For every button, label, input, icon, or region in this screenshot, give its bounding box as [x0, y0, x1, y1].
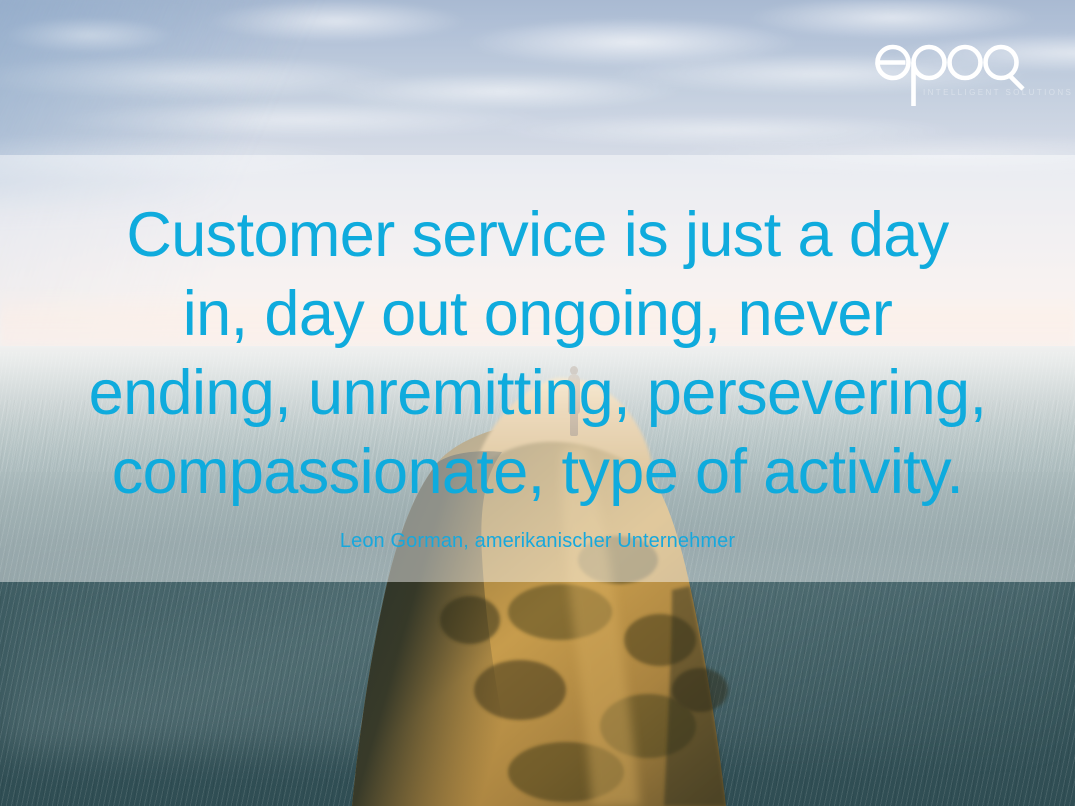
- quote-line-4: compassionate, type of activity.: [26, 433, 1049, 512]
- epoq-logo[interactable]: INTELLIGENT SOLUTIONS: [867, 26, 1059, 110]
- quote-line-1: Customer service is just a day: [26, 196, 1049, 275]
- quote-attribution: Leon Gorman, amerikanischer Unternehmer: [26, 528, 1049, 554]
- epoq-logo-icon: [867, 26, 1059, 110]
- logo-subtitle: INTELLIGENT SOLUTIONS: [923, 88, 1073, 97]
- quote-block: Customer service is just a day in, day o…: [0, 196, 1075, 554]
- quote-line-3: ending, unremitting, persevering,: [26, 354, 1049, 433]
- quote-line-2: in, day out ongoing, never: [26, 275, 1049, 354]
- quote-card: INTELLIGENT SOLUTIONS Customer service i…: [0, 0, 1075, 806]
